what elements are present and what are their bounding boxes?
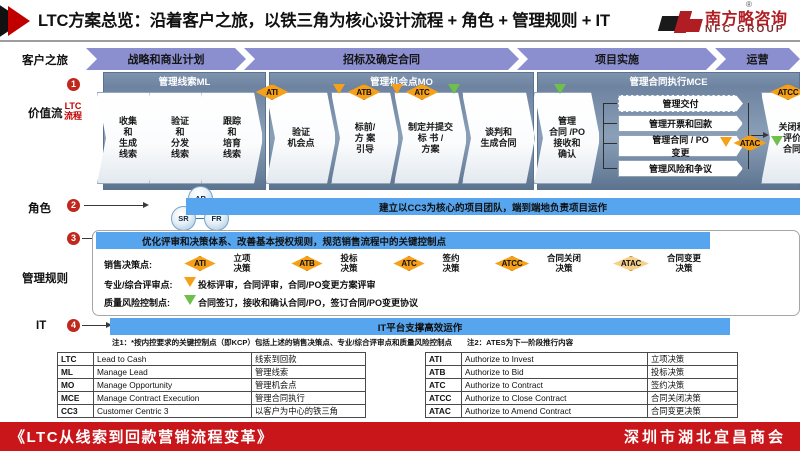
ltc-tag-line2: 流程 (64, 111, 82, 121)
logo-mark-icon (660, 11, 702, 33)
it-statement-bar: IT平台支撑高效运作 (110, 318, 730, 335)
legend-gate-atc-label: 签约 决策 (433, 253, 469, 273)
glossary-abbr: ML (58, 366, 94, 379)
glossary-cn: 签约决策 (648, 379, 738, 392)
value-step-nurture-leads-l4: 线索 (223, 149, 241, 160)
footer-title-right: 深圳市湖北宜昌商会 (624, 426, 786, 447)
quality-triangle-contract-amend (771, 136, 783, 146)
glossary-en: Authorize to Close Contract (462, 392, 648, 405)
value-step-close-evaluate-contract-l1: 关闭和 (778, 122, 800, 133)
glossary-table-right: ATI Authorize to Invest 立项决策 ATB Authori… (425, 352, 738, 418)
value-step-submit-bid-l1: 制定并提交 (408, 122, 453, 133)
legend-gate-atcc-label-l1: 合同关闭 (538, 253, 590, 263)
table-row: LTC Lead to Cash 线索到回款 (58, 353, 366, 366)
footer-title-left: 《LTC从线索到回款营销流程变革》 (10, 426, 274, 447)
quality-triangle-contract-receive (554, 84, 566, 94)
value-step-collect-leads-l4: 线索 (119, 149, 137, 160)
glossary-cn: 合同变更决策 (648, 405, 738, 418)
glossary-en: Authorize to Bid (462, 366, 648, 379)
legend-gate-atcc-label-l2: 决策 (538, 263, 590, 273)
glossary-abbr: ATCC (426, 392, 462, 405)
glossary-cn: 管理线索 (252, 366, 366, 379)
value-step-collect-leads-l2: 和 (119, 127, 137, 138)
mgmt-label-quality-risk: 质量风险控制点: (104, 296, 170, 309)
glossary-en: Manage Contract Execution (94, 392, 252, 405)
value-step-receive-confirm-contract-l4: 确认 (549, 149, 585, 160)
company-logo: ® 南方略咨询 NFC GROUP (660, 2, 792, 40)
step-badge-3: 3 (67, 232, 80, 245)
value-step-nurture-leads[interactable]: 跟踪 和 培育 线索 (201, 92, 263, 184)
mce-sub-risk-dispute[interactable]: 管理风险和争议 (618, 160, 743, 177)
mce-sub-invoice-collection[interactable]: 管理开票和回款 (618, 115, 743, 132)
connector-arrowhead-roles (143, 202, 149, 208)
customer-journey-bar: 战略和商业计划 招标及确定合同 项目实施 运营 (86, 48, 800, 70)
glossary-en: Manage Lead (94, 366, 252, 379)
glossary-abbr: ATC (426, 379, 462, 392)
mgmt-rules-statement-bar: 优化评审和决策体系、改善基本授权规则，规范销售流程中的关键控制点 (96, 232, 710, 249)
legend-gate-ati-label: 立项 决策 (224, 253, 260, 273)
journey-segment-bidding[interactable]: 招标及确定合同 (244, 48, 519, 70)
page-title: LTC方案总览：沿着客户之旅，以铁三角为核心设计流程 + 角色 + 管理规则 +… (38, 7, 648, 35)
value-step-collect-leads-l3: 生成 (119, 138, 137, 149)
table-row: ML Manage Lead 管理线索 (58, 366, 366, 379)
value-step-validate-leads-l2: 和 (171, 127, 189, 138)
glossary-en: Manage Opportunity (94, 379, 252, 392)
mce-bracket-arrowhead (763, 132, 769, 138)
mce-bracket-left (603, 103, 604, 169)
glossary-table-left: LTC Lead to Cash 线索到回款 ML Manage Lead 管理… (57, 352, 366, 418)
glossary-en: Lead to Cash (94, 353, 252, 366)
glossary-cn: 合同关闭决策 (648, 392, 738, 405)
legend-gate-atac-label-l2: 决策 (658, 263, 710, 273)
value-step-validate-leads[interactable]: 验证 和 分发 线索 (149, 92, 211, 184)
legend-gate-atc-label-l2: 决策 (433, 263, 469, 273)
table-row: ATI Authorize to Invest 立项决策 (426, 353, 738, 366)
value-step-collect-leads-l1: 收集 (119, 116, 137, 127)
mce-bracket-arm-4 (603, 168, 617, 169)
legend-quality-text: 合同签订，接收和确认合同/PO，签订合同/PO变更协议 (198, 296, 418, 309)
table-row: CC3 Customer Centric 3 以客户为中心的铁三角 (58, 405, 366, 418)
ltc-process-tag: LTC 流程 (62, 101, 84, 121)
quality-triangle-contract-sign (448, 84, 460, 94)
roles-statement-bar: 建立以CC3为核心的项目团队，端到端地负责项目运作 (186, 198, 800, 215)
row-label-it: IT (36, 320, 46, 332)
value-step-validate-opportunity-l1: 验证 (287, 127, 314, 138)
review-triangle-atb (333, 84, 345, 94)
row-label-roles: 角色 (28, 200, 51, 216)
mgmt-label-review-point: 专业/综合评审点: (104, 278, 173, 291)
legend-gate-atb-label-l2: 决策 (331, 263, 367, 273)
legend-gate-atc-label-l1: 签约 (433, 253, 469, 263)
value-step-receive-confirm-contract[interactable]: 管理 合同 /PO 接收和 确认 (534, 92, 600, 184)
glossary-cn: 管理机会点 (252, 379, 366, 392)
value-step-pre-bid-guidance-l1: 标前/ (355, 122, 376, 133)
glossary-abbr: MCE (58, 392, 94, 405)
logo-name-en: NFC GROUP (705, 24, 785, 35)
glossary-cn: 管理合同执行 (252, 392, 366, 405)
row-label-mgmt-rules: 管理规则 (22, 270, 68, 286)
glossary-abbr: MO (58, 379, 94, 392)
legend-gate-atac-label-l1: 合同变更 (658, 253, 710, 263)
value-step-collect-leads[interactable]: 收集 和 生成 线索 (97, 92, 159, 184)
review-triangle-atc (391, 84, 403, 94)
connector-line-roles (84, 205, 144, 206)
glossary-cn: 投标决策 (648, 366, 738, 379)
footnote-text: 注1：*按内控要求的关键控制点（即KCP）包括上述的销售决策点、专业/综合评审点… (112, 337, 573, 348)
glossary-en: Authorize to Invest (462, 353, 648, 366)
journey-segment-strategy[interactable]: 战略和商业计划 (86, 48, 246, 70)
value-band-ml-label: 管理线索ML (104, 74, 265, 87)
mce-sub-manage-delivery[interactable]: 管理交付 (618, 95, 743, 112)
value-step-nurture-leads-l2: 和 (223, 127, 241, 138)
table-row: ATB Authorize to Bid 投标决策 (426, 366, 738, 379)
legend-gate-atac-label: 合同变更 决策 (658, 253, 710, 273)
glossary-abbr: ATAC (426, 405, 462, 418)
table-row: MO Manage Opportunity 管理机会点 (58, 379, 366, 392)
legend-review-text: 投标评审，合同评审，合同/PO变更方案评审 (198, 278, 376, 291)
legend-quality-triangle-icon (184, 295, 196, 305)
legend-gate-atcc-label: 合同关闭 决策 (538, 253, 590, 273)
value-step-validate-opportunity[interactable]: 验证 机会点 (266, 92, 336, 184)
legend-gate-ati-label-l2: 决策 (224, 263, 260, 273)
value-step-negotiate-contract[interactable]: 谈判和 生成合同 (462, 92, 535, 184)
review-triangle-atac (720, 137, 732, 147)
value-step-receive-confirm-contract-l1: 管理 (549, 116, 585, 127)
value-step-submit-bid-l2: 标 书 / (408, 133, 453, 144)
value-step-negotiate-contract-l1: 谈判和 (480, 127, 516, 138)
step-badge-2: 2 (67, 199, 80, 212)
glossary-cn: 线索到回款 (252, 353, 366, 366)
connector-line-it (82, 325, 107, 326)
value-band-mce-label: 管理合同执行MCE (538, 74, 799, 87)
value-step-pre-bid-guidance-l3: 引导 (355, 144, 376, 155)
legend-gate-atb-label-l1: 投标 (331, 253, 367, 263)
slide-header: LTC方案总览：沿着客户之旅，以铁三角为核心设计流程 + 角色 + 管理规则 +… (0, 0, 800, 41)
glossary-abbr: LTC (58, 353, 94, 366)
table-row: ATAC Authorize to Amend Contract 合同变更决策 (426, 405, 738, 418)
glossary-en: Authorize to Contract (462, 379, 648, 392)
glossary-en: Customer Centric 3 (94, 405, 252, 418)
journey-segment-operation[interactable]: 运营 (715, 48, 800, 70)
value-step-receive-confirm-contract-l3: 接收和 (549, 138, 585, 149)
slide-footer: 《LTC从线索到回款营销流程变革》 深圳市湖北宜昌商会 (0, 422, 800, 451)
header-divider (0, 40, 800, 42)
table-row: MCE Manage Contract Execution 管理合同执行 (58, 392, 366, 405)
value-step-validate-leads-l4: 线索 (171, 149, 189, 160)
value-step-nurture-leads-l1: 跟踪 (223, 116, 241, 127)
value-step-pre-bid-guidance-l2: 方 案 (355, 133, 376, 144)
mgmt-label-sales-decision: 销售决策点: (104, 258, 152, 271)
glossary-cn: 以客户为中心的铁三角 (252, 405, 366, 418)
value-step-nurture-leads-l3: 培育 (223, 138, 241, 149)
mce-bracket-arm-3 (603, 143, 617, 144)
legend-gate-atb-label: 投标 决策 (331, 253, 367, 273)
glossary-en: Authorize to Amend Contract (462, 405, 648, 418)
value-step-pre-bid-guidance[interactable]: 标前/ 方 案 引导 (331, 92, 399, 184)
journey-segment-delivery[interactable]: 项目实施 (517, 48, 717, 70)
value-step-submit-bid[interactable]: 制定并提交 标 书 / 方案 (394, 92, 467, 184)
legend-gate-ati-label-l1: 立项 (224, 253, 260, 263)
value-step-validate-leads-l3: 分发 (171, 138, 189, 149)
glossary-abbr: CC3 (58, 405, 94, 418)
header-arrow-decoration (0, 0, 42, 41)
ltc-tag-line1: LTC (65, 101, 82, 111)
row-label-customer-journey: 客户之旅 (22, 52, 68, 68)
value-stream-diagram: 管理线索ML 管理机会点MO 管理合同执行MCE 收集 和 生成 线索 验证 和… (103, 72, 800, 190)
value-step-negotiate-contract-l2: 生成合同 (480, 138, 516, 149)
slide-root: LTC方案总览：沿着客户之旅，以铁三角为核心设计流程 + 角色 + 管理规则 +… (0, 0, 800, 451)
row-label-value-stream: 价值流 (28, 105, 63, 121)
legend-review-triangle-icon (184, 277, 196, 287)
value-step-receive-confirm-contract-l2: 合同 /PO (549, 127, 585, 138)
glossary-abbr: ATB (426, 366, 462, 379)
glossary-abbr: ATI (426, 353, 462, 366)
table-row: ATC Authorize to Contract 签约决策 (426, 379, 738, 392)
table-row: ATCC Authorize to Close Contract 合同关闭决策 (426, 392, 738, 405)
value-step-submit-bid-l3: 方案 (408, 144, 453, 155)
step-badge-1: 1 (67, 78, 80, 91)
step-badge-4: 4 (67, 319, 80, 332)
value-step-validate-leads-l1: 验证 (171, 116, 189, 127)
value-step-validate-opportunity-l2: 机会点 (287, 138, 314, 149)
mce-bracket-arm-2 (603, 123, 617, 124)
connector-stub (82, 238, 83, 239)
glossary-cn: 立项决策 (648, 353, 738, 366)
mce-bracket-arm-1 (603, 103, 617, 104)
